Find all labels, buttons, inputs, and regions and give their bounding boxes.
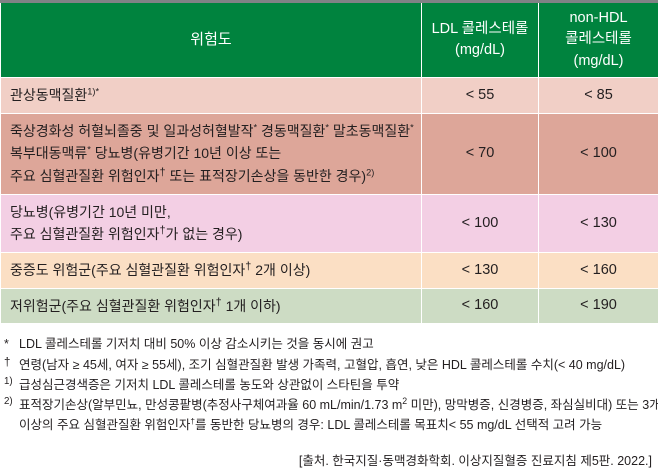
footnote-text: LDL 콜레스테롤 기저치 대비 50% 이상 감소시키는 것을 동시에 권고 [19,337,374,351]
cell-risk-category: 죽상경화성 허혈뇌졸중 및 일과성허혈발작* 경동맥질환* 말초동맥질환*복부대… [1,113,422,194]
cell-risk-category: 당뇨병(유병기간 10년 미만,주요 심혈관질환 위험인자†가 없는 경우) [1,194,422,252]
column-header-ldl-line2: (mg/dL) [455,42,505,58]
table-header: 위험도 LDL 콜레스테롤 (mg/dL) non-HDL 콜레스테롤 (mg/… [1,2,658,78]
table-row: 당뇨병(유병기간 10년 미만,주요 심혈관질환 위험인자†가 없는 경우)< … [1,194,658,252]
table-row: 관상동맥질환1)*< 55< 85 [1,78,658,114]
footnote-item: †연령(남자 ≥ 45세, 여자 ≥ 55세), 조기 심혈관질환 발생 가족력… [4,355,654,375]
footnote-marker: 1) [4,374,13,390]
column-header-nonhdl-line3: (mg/dL) [574,53,624,69]
cell-nonhdl-value: < 100 [539,113,658,194]
risk-text-line: 저위험군(주요 심혈관질환 위험인자† 1개 이하) [10,295,413,318]
cell-ldl-value: < 130 [422,253,539,289]
footnote-item: 2)표적장기손상(알부민뇨, 만성콩팥병(추정사구체여과율 60 mL/min/… [4,395,654,415]
risk-text-line: 중증도 위험군(주요 심혈관질환 위험인자† 2개 이상) [10,259,413,282]
cell-risk-category: 저위험군(주요 심혈관질환 위험인자† 1개 이하) [1,288,422,324]
footnote-text: 표적장기손상(알부민뇨, 만성콩팥병(추정사구체여과율 60 mL/min/1.… [19,398,658,412]
cell-risk-category: 관상동맥질환1)* [1,78,422,114]
column-header-nonhdl-line2: 콜레스테롤 [565,31,632,47]
cell-ldl-value: < 55 [422,78,539,114]
cell-ldl-value: < 160 [422,288,539,324]
footnote-marker: † [4,354,10,373]
cell-ldl-value: < 100 [422,194,539,252]
footnote-text: 급성심근경색증은 기저치 LDL 콜레스테롤 농도와 상관없이 스타틴을 투약 [19,378,399,392]
footnote-item: 1)급성심근경색증은 기저치 LDL 콜레스테롤 농도와 상관없이 스타틴을 투… [4,375,654,395]
cell-nonhdl-value: < 130 [539,194,658,252]
footnote-text: 연령(남자 ≥ 45세, 여자 ≥ 55세), 조기 심혈관질환 발생 가족력,… [19,358,625,372]
risk-text-line: 주요 심혈관질환 위험인자† 또는 표적장기손상을 동반한 경우)2) [10,165,413,188]
column-header-ldl-line1: LDL 콜레스테롤 [432,21,529,37]
risk-target-table: 위험도 LDL 콜레스테롤 (mg/dL) non-HDL 콜레스테롤 (mg/… [0,0,658,324]
risk-text-line: 관상동맥질환1)* [10,84,413,107]
risk-text-line: 주요 심혈관질환 위험인자†가 없는 경우) [10,223,413,246]
footnote-continuation: 이상의 주요 심혈관질환 위험인자†를 동반한 당뇨병의 경우: LDL 콜레스… [4,415,654,435]
cell-nonhdl-value: < 160 [539,253,658,289]
footnote-item: *LDL 콜레스테롤 기저치 대비 50% 이상 감소시키는 것을 동시에 권고 [4,334,654,354]
cell-nonhdl-value: < 85 [539,78,658,114]
table-body: 관상동맥질환1)*< 55< 85죽상경화성 허혈뇌졸중 및 일과성허혈발작* … [1,78,658,324]
header-row: 위험도 LDL 콜레스테롤 (mg/dL) non-HDL 콜레스테롤 (mg/… [1,2,658,78]
cell-ldl-value: < 70 [422,113,539,194]
column-header-ldl: LDL 콜레스테롤 (mg/dL) [422,2,539,78]
cell-risk-category: 중증도 위험군(주요 심혈관질환 위험인자† 2개 이상) [1,253,422,289]
footnote-marker: * [4,334,9,354]
source-citation: [출처. 한국지질·동맥경화학회. 이상지질혈증 진료지침 제5판. 2022.… [0,436,658,469]
column-header-nonhdl-line1: non-HDL [569,10,627,26]
column-header-risk: 위험도 [1,2,422,78]
footnotes-block: *LDL 콜레스테롤 기저치 대비 50% 이상 감소시키는 것을 동시에 권고… [0,324,658,435]
cell-nonhdl-value: < 190 [539,288,658,324]
table-row: 죽상경화성 허혈뇌졸중 및 일과성허혈발작* 경동맥질환* 말초동맥질환*복부대… [1,113,658,194]
risk-text-line: 복부대동맥류* 당뇨병(유병기간 10년 이상 또는 [10,142,413,165]
table-row: 저위험군(주요 심혈관질환 위험인자† 1개 이하)< 160< 190 [1,288,658,324]
risk-text-line: 죽상경화성 허혈뇌졸중 및 일과성허혈발작* 경동맥질환* 말초동맥질환* [10,120,413,143]
table-row: 중증도 위험군(주요 심혈관질환 위험인자† 2개 이상)< 130< 160 [1,253,658,289]
column-header-nonhdl: non-HDL 콜레스테롤 (mg/dL) [539,2,658,78]
risk-text-line: 당뇨병(유병기간 10년 미만, [10,201,413,224]
footnote-marker: 2) [4,394,13,410]
